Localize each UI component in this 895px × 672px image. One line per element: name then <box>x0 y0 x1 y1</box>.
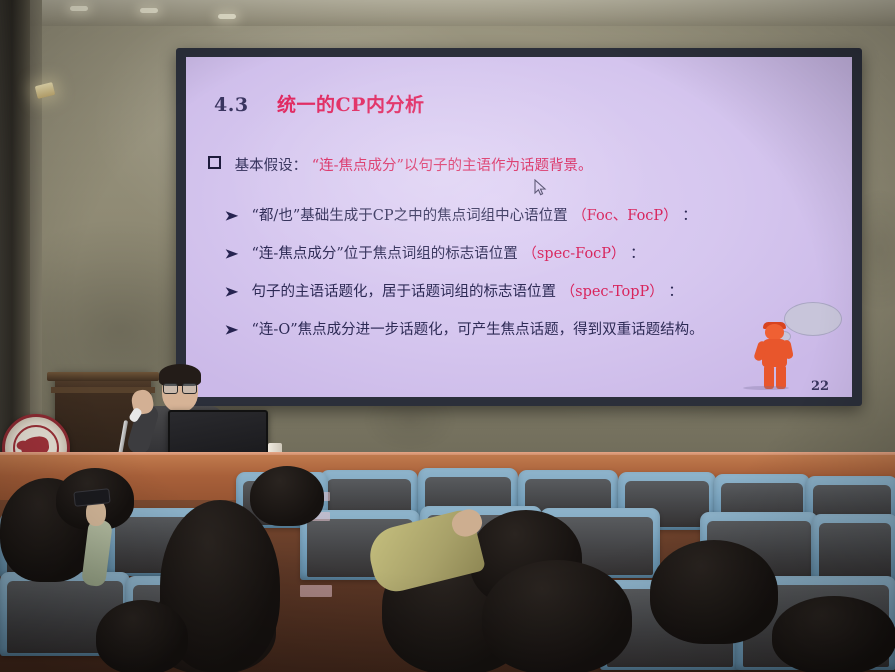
audience-head <box>650 540 778 644</box>
slide-page-number: 22 <box>811 379 829 394</box>
seat <box>812 514 895 584</box>
audience-head <box>96 600 188 672</box>
arrow-bullet-icon: ➤ <box>225 209 239 224</box>
audience-head <box>482 560 632 672</box>
audience-head <box>772 596 895 672</box>
bullet-2-segment-1: （spec-FocP） <box>522 246 625 262</box>
bullet-2-segment-2: ： <box>630 246 645 262</box>
bullet-3-segment-1: （spec-TopP） <box>561 284 664 300</box>
figure-shadow <box>743 386 789 390</box>
audience-head <box>250 466 324 526</box>
bullet-0-segment-0: 基本假设： <box>235 158 308 174</box>
lecture-hall-photo: 4.3 统一的CP内分析 基本假设： “连-焦点成分”以句子的主语作为话题背景。… <box>0 0 895 672</box>
bullet-0-segment-1: “连-焦点成分”以句子的主语作为话题背景。 <box>312 158 593 174</box>
bullet-4-segment-0: “连-O”焦点成分进一步话题化，可产生焦点话题，得到双重话题结构。 <box>252 322 704 338</box>
slide-bullet-2: ➤ “连-焦点成分”位于焦点词组的标志语位置 （spec-FocP） ： <box>226 242 645 263</box>
ceiling-light-icon <box>140 8 158 13</box>
slide-title-number: 4.3 <box>214 94 249 116</box>
wall-column <box>0 0 30 470</box>
bullet-3-segment-0: 句子的主语话题化，居于话题词组的标志语位置 <box>252 284 557 300</box>
square-bullet-icon <box>208 156 221 169</box>
arrow-bullet-icon: ➤ <box>225 285 239 300</box>
bullet-2-segment-0: “连-焦点成分”位于焦点词组的标志语位置 <box>252 246 518 262</box>
arrow-bullet-icon: ➤ <box>225 247 239 262</box>
thinking-person-clipart <box>751 302 852 392</box>
arrow-bullet-icon: ➤ <box>225 323 239 338</box>
bullet-1-segment-1: （Foc、FocP） <box>572 208 678 224</box>
projection-screen-frame: 4.3 统一的CP内分析 基本假设： “连-焦点成分”以句子的主语作为话题背景。… <box>176 48 862 406</box>
ceiling-light-icon <box>218 14 236 19</box>
slide-bullet-4: ➤ “连-O”焦点成分进一步话题化，可产生焦点话题，得到双重话题结构。 <box>226 318 704 339</box>
orange-figure-icon <box>753 324 797 390</box>
bullet-3-segment-2: ： <box>668 284 683 300</box>
slide-title: 4.3 统一的CP内分析 <box>214 90 424 117</box>
bullet-1-segment-2: ： <box>682 208 697 224</box>
projected-slide: 4.3 统一的CP内分析 基本假设： “连-焦点成分”以句子的主语作为话题背景。… <box>186 57 852 397</box>
slide-bullet-3: ➤ 句子的主语话题化，居于话题词组的标志语位置 （spec-TopP） ： <box>226 280 683 301</box>
bullet-1-segment-0: “都/也”基础生成于CP之中的焦点词组中心语位置 <box>252 208 568 224</box>
desk-clip <box>300 585 332 597</box>
slide-bullet-1: ➤ “都/也”基础生成于CP之中的焦点词组中心语位置 （Foc、FocP） ： <box>226 204 697 225</box>
slide-title-text: 统一的CP内分析 <box>277 94 424 116</box>
presenter-glasses-icon <box>163 383 197 392</box>
slide-bullet-0: 基本假设： “连-焦点成分”以句子的主语作为话题背景。 <box>208 154 592 175</box>
wall-column-edge <box>30 0 42 470</box>
ceiling-light-icon <box>70 6 88 11</box>
ceiling <box>0 0 895 26</box>
